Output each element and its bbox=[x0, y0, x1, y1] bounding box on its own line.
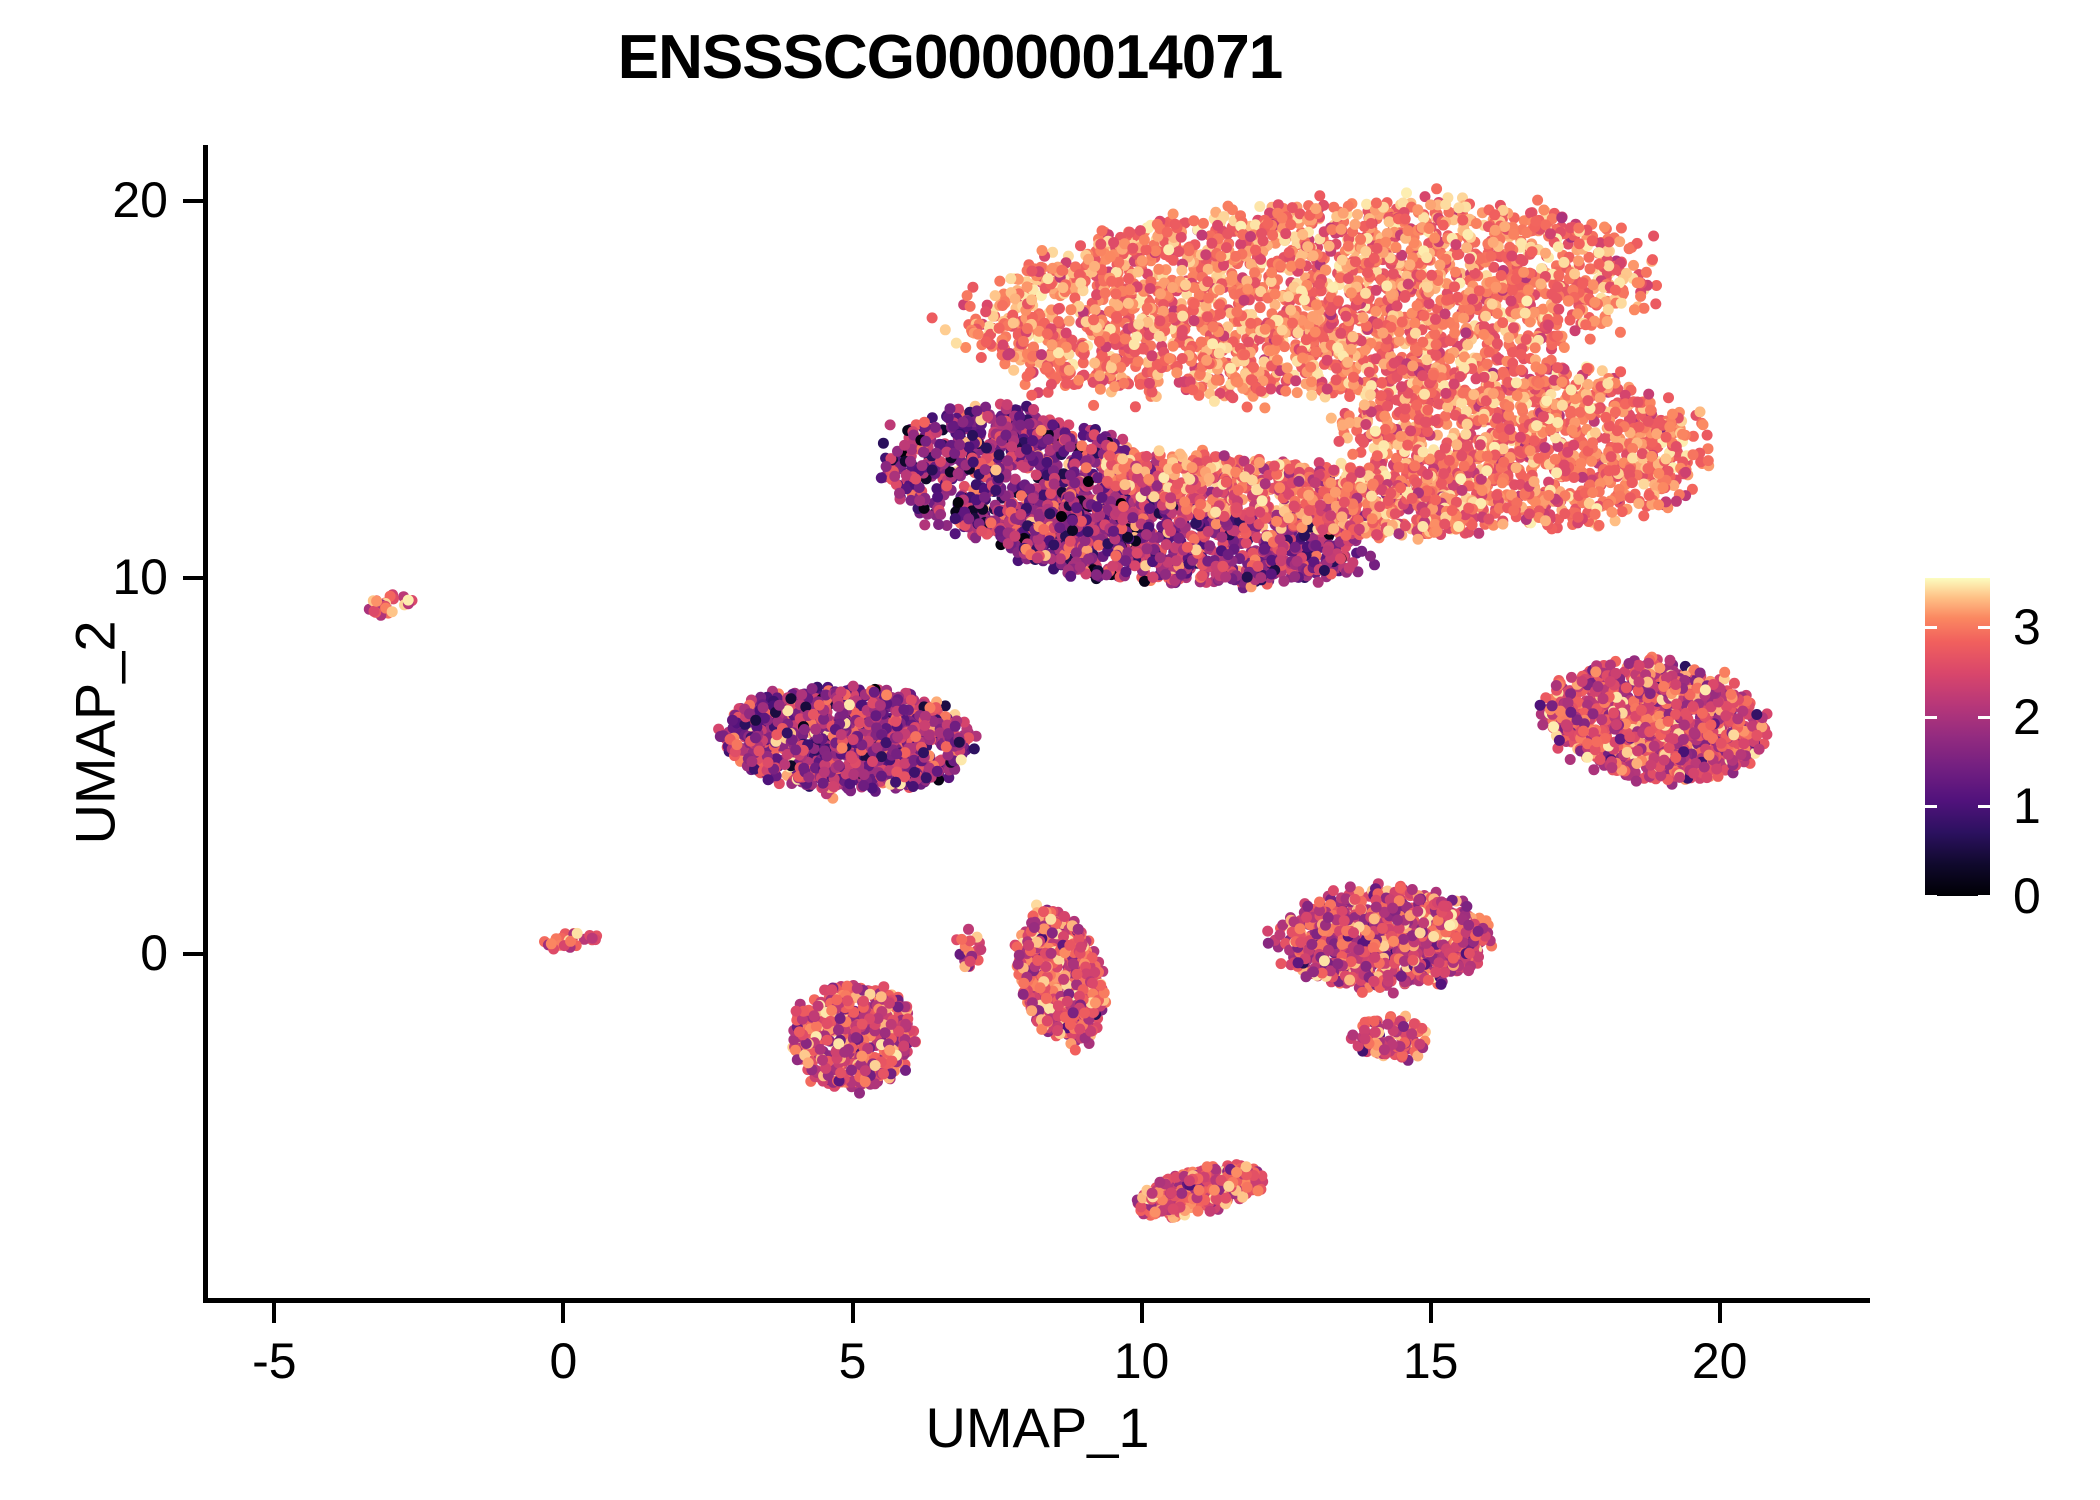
colorbar-tick-mark bbox=[1978, 626, 1990, 629]
colorbar-tick-mark bbox=[1925, 895, 1937, 898]
x-tick-mark bbox=[1429, 1303, 1433, 1323]
x-tick-label: -5 bbox=[174, 1332, 374, 1390]
x-tick-label: 15 bbox=[1331, 1332, 1531, 1390]
page-title: ENSSSCG00000014071 bbox=[0, 22, 1900, 93]
colorbar-tick-label: 3 bbox=[2013, 602, 2041, 652]
x-tick-label: 0 bbox=[463, 1332, 663, 1390]
colorbar-tick-mark bbox=[1978, 895, 1990, 898]
y-tick-mark bbox=[183, 199, 203, 203]
plot-panel bbox=[205, 145, 1870, 1300]
colorbar-tick-label: 0 bbox=[2013, 871, 2041, 921]
colorbar-tick-label: 2 bbox=[2013, 692, 2041, 742]
x-tick-label: 10 bbox=[1042, 1332, 1242, 1390]
x-tick-label: 20 bbox=[1620, 1332, 1820, 1390]
y-tick-mark bbox=[183, 952, 203, 956]
x-axis-line bbox=[203, 1298, 1870, 1303]
colorbar-tick-mark bbox=[1925, 805, 1937, 808]
colorbar-tick-mark bbox=[1925, 716, 1937, 719]
y-tick-mark bbox=[183, 576, 203, 580]
colorbar-legend: 0123 bbox=[1925, 578, 2085, 898]
x-tick-mark bbox=[561, 1303, 565, 1323]
colorbar-tick-mark bbox=[1978, 716, 1990, 719]
scatter-points-layer bbox=[205, 145, 1870, 1300]
colorbar-tick-mark bbox=[1925, 626, 1937, 629]
colorbar-tick-label: 1 bbox=[2013, 781, 2041, 831]
x-tick-mark bbox=[272, 1303, 276, 1323]
y-axis-title: UMAP_2 bbox=[63, 333, 128, 1133]
x-axis-title: UMAP_1 bbox=[205, 1395, 1870, 1460]
colorbar-tick-mark bbox=[1978, 805, 1990, 808]
x-tick-mark bbox=[851, 1303, 855, 1323]
x-tick-mark bbox=[1718, 1303, 1722, 1323]
y-axis-line bbox=[203, 145, 208, 1303]
x-tick-mark bbox=[1140, 1303, 1144, 1323]
y-tick-label: 20 bbox=[0, 171, 168, 229]
umap-feature-plot: ENSSSCG00000014071 01020 -505101520 UMAP… bbox=[0, 0, 2100, 1500]
x-tick-label: 5 bbox=[753, 1332, 953, 1390]
